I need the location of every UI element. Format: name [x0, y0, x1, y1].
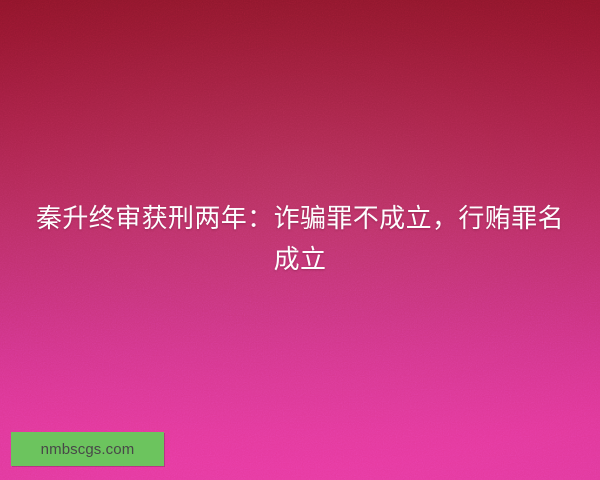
watermark-label: nmbscgs.com [41, 441, 135, 458]
headline-text: 秦升终审获刑两年：诈骗罪不成立，行贿罪名成立 [0, 199, 600, 281]
image-card: 秦升终审获刑两年：诈骗罪不成立，行贿罪名成立 nmbscgs.com [0, 0, 600, 480]
watermark-badge: nmbscgs.com [11, 432, 164, 466]
